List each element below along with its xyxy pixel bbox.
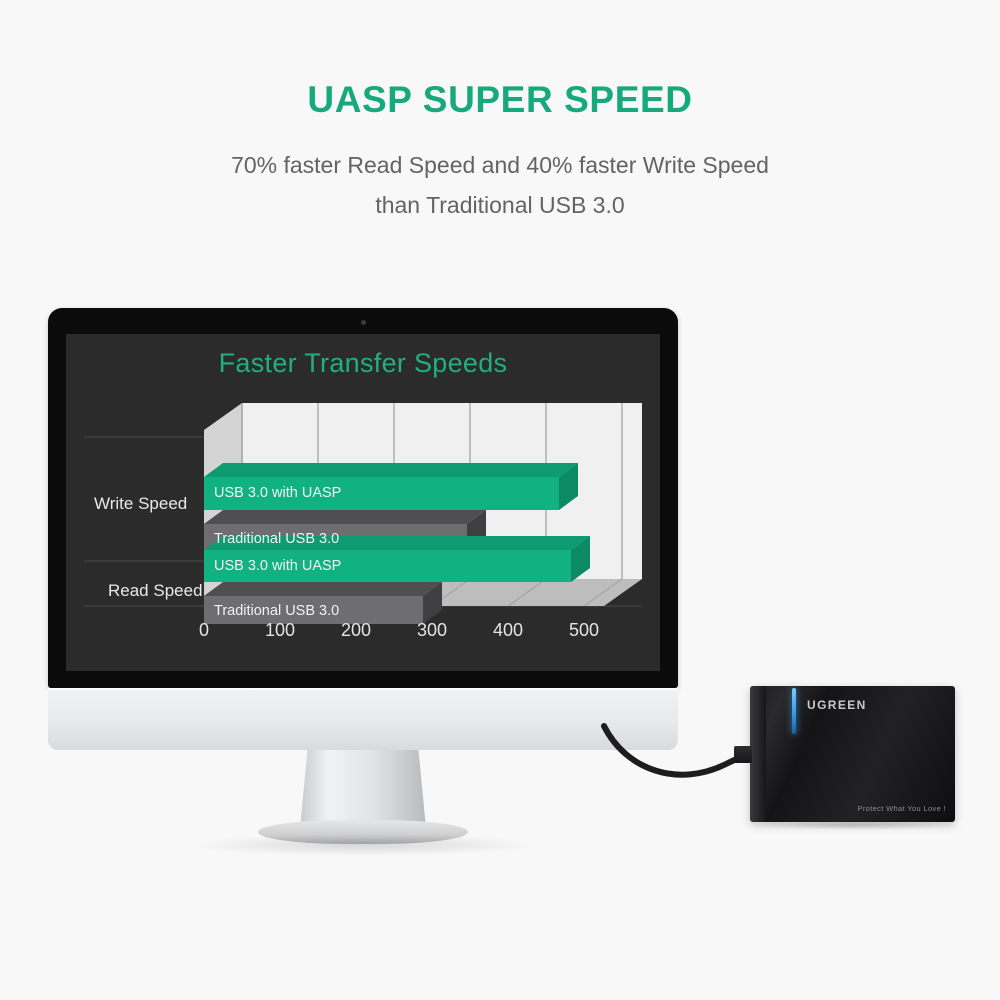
product-infographic: UASP SUPER SPEED 70% faster Read Speed a… xyxy=(0,0,1000,1000)
x-tick-200: 200 xyxy=(341,620,371,641)
led-indicator-icon xyxy=(792,688,796,734)
usb-plug-icon xyxy=(734,746,752,763)
monitor-shadow xyxy=(188,834,538,856)
external-hard-drive: UGREEN Protect What You Love ! xyxy=(750,686,955,822)
x-tick-100: 100 xyxy=(265,620,295,641)
ugreen-logo: UGREEN xyxy=(807,698,867,712)
drive-tagline: Protect What You Love ! xyxy=(857,804,946,813)
webcam-icon xyxy=(361,320,366,325)
x-tick-400: 400 xyxy=(493,620,523,641)
x-tick-500: 500 xyxy=(569,620,599,641)
page-subtitle: 70% faster Read Speed and 40% faster Wri… xyxy=(0,145,1000,225)
page-title: UASP SUPER SPEED xyxy=(0,79,1000,121)
x-tick-0: 0 xyxy=(199,620,209,641)
bar-chart: Write Speed Read Speed USB 3.0 with UASP… xyxy=(66,334,660,671)
drive-side-edge xyxy=(750,686,766,822)
category-label-write-speed: Write Speed xyxy=(94,494,187,514)
subtitle-line-2: than Traditional USB 3.0 xyxy=(0,185,1000,225)
monitor-stand-neck xyxy=(300,750,426,828)
subtitle-line-1: 70% faster Read Speed and 40% faster Wri… xyxy=(231,152,769,178)
monitor-chin xyxy=(48,688,678,750)
drive-shadow xyxy=(754,820,954,830)
monitor-screen: Faster Transfer Speeds xyxy=(66,334,660,671)
x-tick-300: 300 xyxy=(417,620,447,641)
category-label-read-speed: Read Speed xyxy=(108,581,203,601)
desktop-monitor: Faster Transfer Speeds xyxy=(48,308,678,688)
